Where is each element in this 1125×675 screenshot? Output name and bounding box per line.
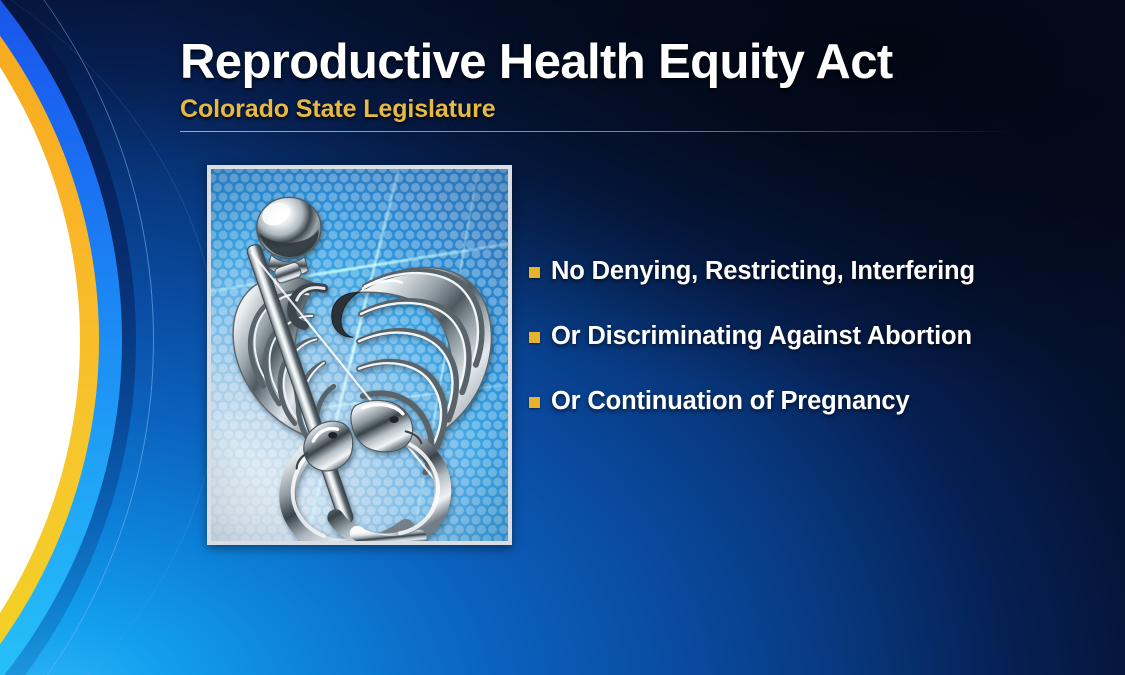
header-divider [180, 131, 1012, 132]
bullet-square-icon [529, 397, 540, 408]
broadcast-slide: Reproductive Health Equity Act Colorado … [0, 0, 1125, 675]
bullet-label: Or Continuation of Pregnancy [551, 388, 909, 415]
image-vignette [211, 169, 508, 541]
bullet-label: No Denying, Restricting, Interfering [551, 258, 975, 285]
header-block: Reproductive Health Equity Act Colorado … [180, 38, 1080, 124]
bullet-square-icon [529, 332, 540, 343]
list-item: Or Discriminating Against Abortion [529, 323, 1089, 388]
bullet-label: Or Discriminating Against Abortion [551, 323, 972, 350]
list-item: Or Continuation of Pregnancy [529, 388, 1089, 453]
list-item: No Denying, Restricting, Interfering [529, 258, 1089, 323]
bullet-square-icon [529, 267, 540, 278]
page-title: Reproductive Health Equity Act [180, 38, 1080, 87]
caduceus-image-card [207, 165, 512, 545]
page-subtitle: Colorado State Legislature [180, 95, 1080, 124]
bullet-list: No Denying, Restricting, Interfering Or … [529, 258, 1089, 453]
caduceus-image [211, 169, 508, 541]
